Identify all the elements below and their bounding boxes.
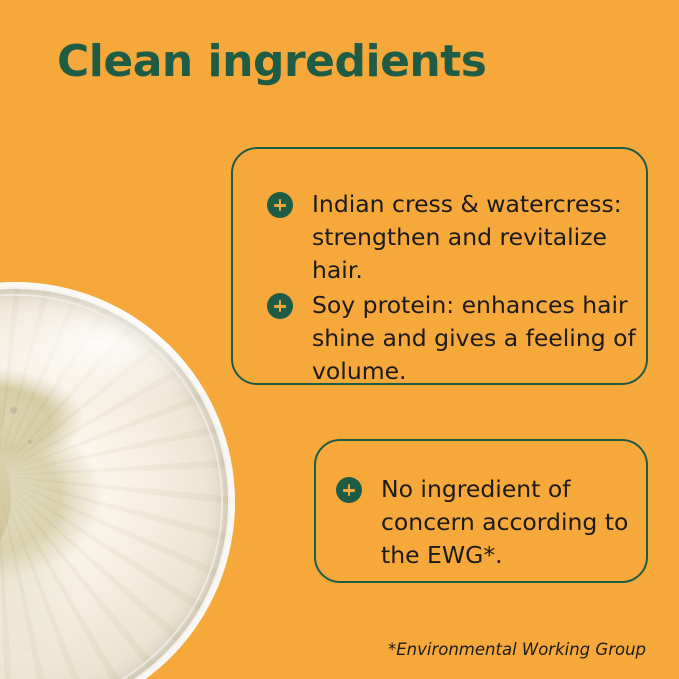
- list-item-label: Soy protein: enhances hair shine and giv…: [312, 289, 642, 388]
- list-item: No ingredient of concern according to th…: [336, 473, 641, 572]
- footnote: *Environmental Working Group: [388, 640, 646, 659]
- ingredients-card: Indian cress & watercress: strengthen an…: [231, 147, 648, 385]
- page-title: Clean ingredients: [57, 36, 486, 87]
- ewg-card: No ingredient of concern according to th…: [314, 439, 648, 583]
- petri-dish-powder-photo: [0, 282, 235, 679]
- plus-icon: [267, 192, 293, 218]
- list-item: Indian cress & watercress: strengthen an…: [267, 188, 642, 287]
- plus-icon: [336, 477, 362, 503]
- list-item: Soy protein: enhances hair shine and giv…: [267, 289, 642, 388]
- list-item-label: No ingredient of concern according to th…: [381, 473, 641, 572]
- plus-icon: [267, 293, 293, 319]
- product-infographic: Clean ingredients Indian cress & watercr…: [0, 0, 679, 679]
- list-item-label: Indian cress & watercress: strengthen an…: [312, 188, 642, 287]
